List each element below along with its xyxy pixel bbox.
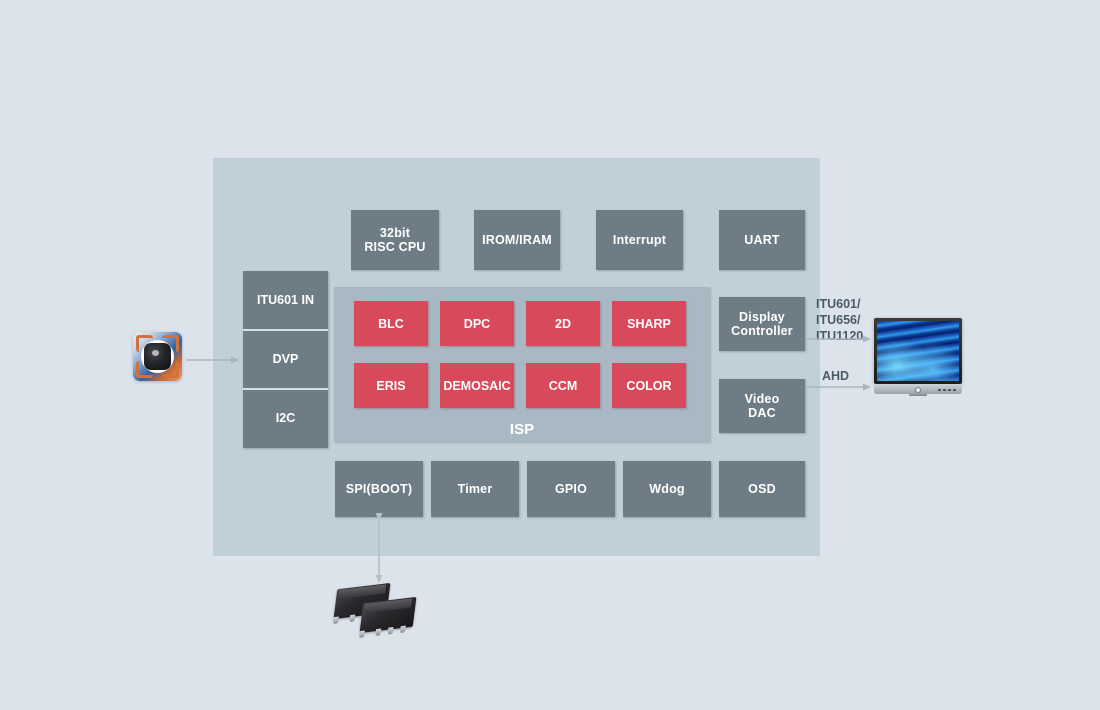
connector-label-display-out: ITU601/ ITU656/ ITU1120 [816, 296, 863, 344]
block-wdog[interactable]: Wdog [623, 461, 711, 517]
chip-pin [400, 626, 406, 634]
block-gpio[interactable]: GPIO [527, 461, 615, 517]
chip-pin [349, 615, 355, 623]
isp-block-blc[interactable]: BLC [354, 301, 428, 346]
flash-chip-top [338, 584, 386, 599]
isp-block-demosaic-label: DEMOSAIC [443, 379, 510, 393]
block-irom-iram[interactable]: IROM/IRAM [474, 210, 560, 270]
block-i2c-label: I2C [276, 411, 295, 425]
monitor-bezel [874, 318, 962, 384]
spi-flash-chips-icon [334, 583, 424, 641]
isp-block-dpc-label: DPC [464, 317, 490, 331]
isp-block-color-label: COLOR [626, 379, 671, 393]
monitor-icon [874, 318, 962, 396]
camera-lens-icon [144, 343, 171, 370]
block-spi-boot-label: SPI(BOOT) [346, 482, 412, 496]
block-osd[interactable]: OSD [719, 461, 805, 517]
connector-label-dac-out: AHD [822, 368, 849, 384]
isp-panel-title: ISP [334, 421, 710, 438]
isp-block-sharp[interactable]: SHARP [612, 301, 686, 346]
flash-chip-icon [360, 597, 417, 633]
isp-block-eris-label: ERIS [376, 379, 405, 393]
camera-module-icon [133, 332, 182, 381]
io-interface-column: ITU601 IN DVP I2C [243, 271, 328, 448]
chip-pin [375, 629, 381, 637]
block-display-controller-label: Display Controller [731, 310, 793, 338]
block-i2c[interactable]: I2C [243, 389, 328, 447]
block-interrupt[interactable]: Interrupt [596, 210, 683, 270]
monitor-screen [877, 321, 959, 381]
block-spi-boot[interactable]: SPI(BOOT) [335, 461, 423, 517]
block-uart-label: UART [744, 233, 780, 247]
isp-block-2d[interactable]: 2D [526, 301, 600, 346]
isp-panel: BLC DPC 2D SHARP ERIS DEMOSAIC CCM COLOR… [334, 287, 710, 442]
isp-block-ccm-label: CCM [549, 379, 577, 393]
chip-pin [333, 616, 339, 624]
block-osd-label: OSD [748, 482, 776, 496]
block-itu601-in[interactable]: ITU601 IN [243, 271, 328, 329]
block-wdog-label: Wdog [649, 482, 685, 496]
isp-block-color[interactable]: COLOR [612, 363, 686, 408]
block-gpio-label: GPIO [555, 482, 587, 496]
block-video-dac-label: Video DAC [745, 392, 780, 420]
block-risc-cpu[interactable]: 32bit RISC CPU [351, 210, 439, 270]
isp-block-sharp-label: SHARP [627, 317, 671, 331]
isp-block-2d-label: 2D [555, 317, 571, 331]
isp-block-blc-label: BLC [378, 317, 404, 331]
monitor-buttons-icon [937, 388, 957, 391]
chip-pin [388, 627, 394, 635]
isp-block-dpc[interactable]: DPC [440, 301, 514, 346]
block-timer[interactable]: Timer [431, 461, 519, 517]
block-video-dac[interactable]: Video DAC [719, 379, 805, 433]
block-timer-label: Timer [458, 482, 493, 496]
isp-block-ccm[interactable]: CCM [526, 363, 600, 408]
monitor-power-icon [915, 387, 921, 393]
isp-block-demosaic[interactable]: DEMOSAIC [440, 363, 514, 408]
block-dvp-label: DVP [273, 352, 299, 366]
diagram-canvas: 32bit RISC CPU IROM/IRAM Interrupt UART … [0, 0, 1100, 710]
chip-pin [359, 630, 365, 638]
block-display-controller[interactable]: Display Controller [719, 297, 805, 351]
block-interrupt-label: Interrupt [613, 233, 666, 247]
block-itu601-in-label: ITU601 IN [257, 293, 314, 307]
camera-glint-icon [152, 350, 159, 356]
block-dvp[interactable]: DVP [243, 330, 328, 388]
block-uart[interactable]: UART [719, 210, 805, 270]
block-irom-iram-label: IROM/IRAM [482, 233, 552, 247]
monitor-foot [909, 394, 927, 396]
isp-block-eris[interactable]: ERIS [354, 363, 428, 408]
block-risc-cpu-label: 32bit RISC CPU [364, 226, 425, 254]
